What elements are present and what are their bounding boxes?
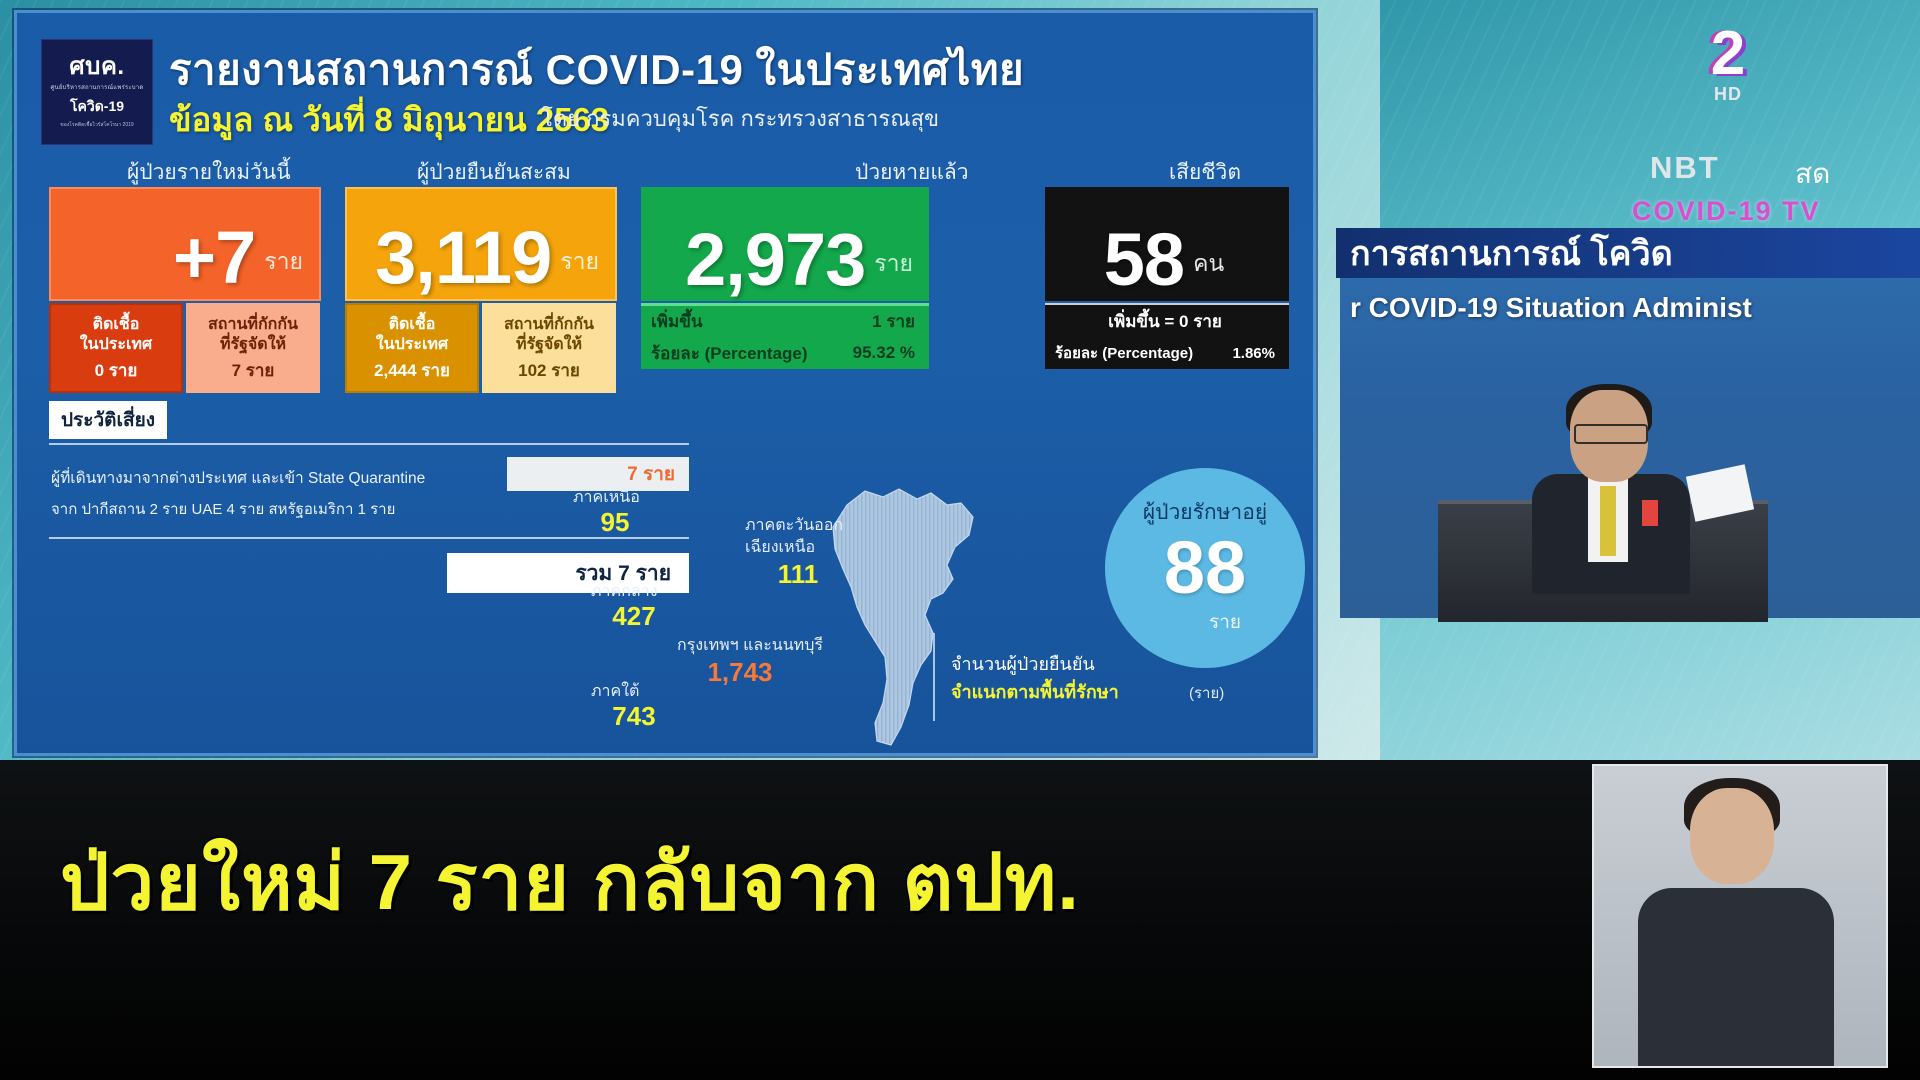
- map-label-bangkok: กรุงเทพฯ และนนทบุรี: [677, 633, 823, 658]
- deaths-percent-key: ร้อยละ (Percentage): [1055, 341, 1193, 365]
- map-value-south: 743: [589, 701, 679, 732]
- subbox-cum-local: ติดเชื้อ ในประเทศ 2,444 ราย: [345, 303, 479, 393]
- map-legend-divider: [933, 633, 935, 721]
- speaker-tie: [1600, 486, 1616, 556]
- risk-line-2: จาก ปากีสถาน 2 ราย UAE 4 ราย สหรัฐอเมริก…: [51, 497, 395, 521]
- active-cases-label: ผู้ป่วยรักษาอยู่: [1143, 496, 1267, 529]
- subbox-new-quarantine: สถานที่กักกัน ที่รัฐจัดให้ 7 ราย: [186, 303, 320, 393]
- map-value-bangkok: 1,743: [685, 657, 795, 688]
- subbox-new-quarantine-label1: สถานที่กักกัน: [208, 315, 298, 335]
- subbox-new-local-value: 0 ราย: [95, 360, 138, 381]
- channel-hd-badge: HD: [1688, 84, 1768, 105]
- speaker-glasses-icon: [1574, 424, 1648, 444]
- logo-title-th: ศบค.: [69, 55, 124, 79]
- channel-name: NBT: [1650, 150, 1720, 186]
- subbox-new-quarantine-value: 7 ราย: [232, 360, 275, 381]
- map-value-north: 95: [573, 507, 657, 538]
- subbox-new-local: ติดเชื้อ ในประเทศ 0 ราย: [49, 303, 183, 393]
- subbox-cum-quarantine-label1: สถานที่กักกัน: [504, 315, 594, 335]
- infographic-source: โดย กรมควบคุมโรค กระทรวงสาธารณสุข: [541, 101, 939, 136]
- subbox-new-quarantine-label2: ที่รัฐจัดให้: [220, 335, 286, 355]
- card-new-cases-subrow: ติดเชื้อ ในประเทศ 0 ราย สถานที่กักกัน ที…: [49, 303, 320, 393]
- card-caption-recovered: ป่วยหายแล้ว: [855, 156, 969, 189]
- logo-covid-label: โควิด-19: [70, 96, 124, 118]
- subbox-cum-quarantine: สถานที่กักกัน ที่รัฐจัดให้ 102 ราย: [482, 303, 616, 393]
- subbox-cum-quarantine-label2: ที่รัฐจัดให้: [516, 335, 582, 355]
- active-cases-unit: ราย: [1209, 607, 1241, 637]
- risk-divider-top: [49, 443, 689, 445]
- risk-line-1: ผู้ที่เดินทางมาจากต่างประเทศ และเข้า Sta…: [51, 465, 425, 490]
- subbox-cum-local-label2: ในประเทศ: [376, 335, 448, 355]
- recovered-percent-key: ร้อยละ (Percentage): [651, 340, 808, 367]
- card-deaths: 58 คน: [1045, 187, 1289, 301]
- card-cumulative: 3,119 ราย: [345, 187, 617, 301]
- infographic-header: ศบค. ศูนย์บริหารสถานการณ์แพร่ระบาด โควิด…: [41, 33, 1291, 143]
- card-caption-new-cases: ผู้ป่วยรายใหม่วันนี้: [127, 156, 291, 189]
- card-cumulative-subrow: ติดเชื้อ ในประเทศ 2,444 ราย สถานที่กักกั…: [345, 303, 616, 393]
- map-legend-line1: จำนวนผู้ป่วยยืนยัน: [951, 649, 1095, 678]
- covid-tv-label: COVID-19 TV: [1632, 196, 1821, 227]
- card-recovered: 2,973 ราย: [641, 187, 929, 301]
- map-legend-unit: (ราย): [1189, 681, 1224, 705]
- deaths-percent-value: 1.86%: [1232, 345, 1275, 362]
- deaths-increase-row: เพิ่มขึ้น = 0 ราย: [1045, 303, 1289, 337]
- lower-third-caption: ป่วยใหม่ 7 ราย กลับจาก ตปท.: [60, 820, 1560, 944]
- risk-history-badge: ประวัติเสี่ยง: [49, 401, 167, 439]
- recovered-increase-key: เพิ่มขึ้น: [651, 308, 702, 335]
- logo-subtitle-2: ของโรคติดเชื้อไวรัสโคโรนา 2019: [60, 121, 133, 129]
- channel-number: 2: [1688, 26, 1768, 82]
- recovered-percent-row: ร้อยละ (Percentage) 95.32 %: [641, 337, 929, 369]
- card-recovered-value: 2,973: [685, 225, 865, 295]
- subbox-cum-local-label1: ติดเชื้อ: [389, 315, 436, 335]
- card-cumulative-unit: ราย: [560, 244, 599, 280]
- deaths-increase-key: เพิ่มขึ้น = 0 ราย: [1108, 308, 1222, 335]
- card-deaths-unit: คน: [1193, 246, 1224, 282]
- active-cases-value: 88: [1164, 531, 1246, 605]
- subbox-new-local-label1: ติดเชื้อ: [93, 315, 140, 335]
- card-caption-deaths: เสียชีวิต: [1169, 156, 1241, 189]
- tv-banner-thai: การสถานการณ์ โควิด: [1336, 228, 1920, 278]
- pip-person-head: [1690, 788, 1774, 884]
- recovered-increase-row: เพิ่มขึ้น 1 ราย: [641, 303, 929, 337]
- card-new-cases-value: +7: [173, 223, 255, 293]
- live-badge: สด: [1795, 152, 1830, 196]
- speaker-ribbon: [1642, 500, 1658, 526]
- logo-subtitle-1: ศูนย์บริหารสถานการณ์แพร่ระบาด: [51, 82, 144, 92]
- broadcast-screen: ศบค. ศูนย์บริหารสถานการณ์แพร่ระบาด โควิด…: [0, 0, 1920, 1080]
- card-cumulative-value: 3,119: [375, 223, 551, 293]
- covid-infographic-panel: ศบค. ศูนย์บริหารสถานการณ์แพร่ระบาด โควิด…: [14, 10, 1316, 756]
- subbox-new-local-label2: ในประเทศ: [80, 335, 152, 355]
- recovered-percent-value: 95.32 %: [853, 343, 915, 363]
- card-recovered-unit: ราย: [874, 246, 913, 282]
- map-label-northeast-2: เฉียงเหนือ: [745, 535, 815, 560]
- card-new-cases: +7 ราย: [49, 187, 321, 301]
- pip-person-body: [1638, 888, 1834, 1066]
- card-deaths-value: 58: [1104, 225, 1184, 295]
- map-value-central: 427: [589, 601, 679, 632]
- channel-logo: 2 HD: [1688, 26, 1768, 105]
- subbox-cum-quarantine-value: 102 ราย: [518, 360, 580, 381]
- deaths-percent-row: ร้อยละ (Percentage) 1.86%: [1045, 337, 1289, 369]
- recovered-increase-value: 1 ราย: [872, 308, 915, 335]
- subbox-cum-local-value: 2,444 ราย: [374, 360, 450, 381]
- map-value-northeast: 111: [755, 559, 841, 590]
- sbc-logo: ศบค. ศูนย์บริหารสถานการณ์แพร่ระบาด โควิด…: [41, 39, 153, 145]
- card-new-cases-unit: ราย: [264, 244, 303, 280]
- sign-language-pip: [1592, 764, 1888, 1068]
- card-caption-cumulative: ผู้ป่วยยืนยันสะสม: [417, 156, 571, 189]
- tv-banner-english: r COVID-19 Situation Administ: [1336, 286, 1920, 330]
- map-legend-line2: จำแนกตามพื้นที่รักษา: [951, 677, 1119, 706]
- active-cases-circle: ผู้ป่วยรักษาอยู่ 88 ราย: [1105, 468, 1305, 668]
